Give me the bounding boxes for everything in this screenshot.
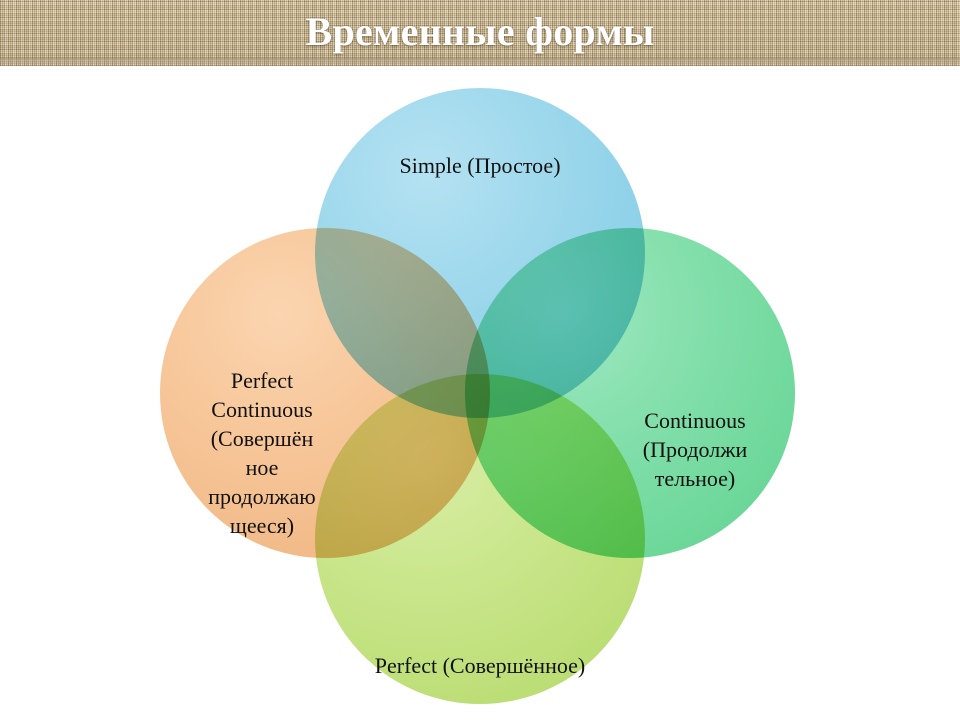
venn-diagram: Simple (Простое) Continuous (Продолжи те…	[0, 66, 960, 720]
venn-circle-perfect-continuous[interactable]	[160, 228, 490, 558]
title-banner: Временные формы	[0, 0, 960, 66]
page-title: Временные формы	[0, 2, 960, 62]
slide-canvas: Временные формы Simple (Простое) Continu…	[0, 0, 960, 720]
